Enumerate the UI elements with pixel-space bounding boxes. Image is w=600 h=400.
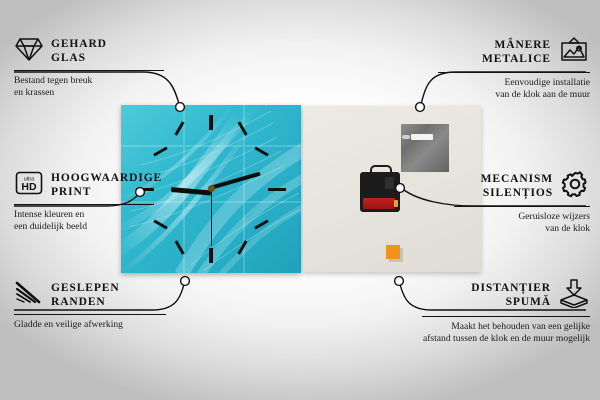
divider — [438, 72, 590, 73]
hanger-keyhole-slot — [411, 134, 433, 140]
mechanism-hanger-loop — [370, 165, 392, 176]
clock-second-hand — [211, 188, 213, 246]
divider — [14, 70, 164, 71]
feature-title: GEHARD GLAS — [51, 38, 107, 65]
feature-gehard-glas: GEHARD GLAS Bestand tegen breuk en krass… — [14, 36, 164, 98]
clock-tick-12 — [209, 115, 213, 130]
divider — [14, 204, 154, 205]
feature-distantier-spuma: DISTANȚIER SPUMĂ Maakt het behouden van … — [422, 278, 590, 344]
picture-frame-hanger-icon — [558, 36, 590, 69]
feature-geslepen-randen: GESLEPEN RANDEN Gladde en veilige afwerk… — [14, 280, 166, 331]
feature-title: MECANISM SILENȚIOS — [481, 173, 553, 200]
feature-title: HOOGWAARDIGE PRINT — [51, 172, 162, 199]
clock-mechanism-box — [360, 172, 400, 212]
feature-description: Bestand tegen breuk en krassen — [14, 75, 164, 98]
feature-manere-metalice: MÂNERE METALICE Eenvoudige installatie v… — [438, 36, 590, 100]
clock-tick-3 — [268, 188, 286, 191]
infographic-canvas: GEHARD GLAS Bestand tegen breuk en krass… — [0, 0, 600, 400]
clock-center-cap — [208, 185, 215, 192]
feature-description: Eenvoudige installatie van de klok aan d… — [438, 77, 590, 100]
feature-description: Gladde en veilige afwerking — [14, 319, 166, 331]
feature-hoogwaardige-print: ultra HD HOOGWAARDIGE PRINT Intense kleu… — [14, 170, 154, 232]
divider — [422, 316, 590, 317]
foam-spacer-block — [386, 245, 400, 259]
metal-hanger-plate — [401, 124, 449, 172]
clock-tick-6 — [209, 248, 213, 263]
divider — [14, 314, 166, 315]
battery — [363, 198, 395, 209]
feature-description: Intense kleuren en een duidelijk beeld — [14, 209, 154, 232]
product-image-group — [121, 105, 481, 273]
feature-description: Geruisloze wijzers van de klok — [454, 211, 590, 234]
gear-icon — [560, 170, 590, 203]
foam-spacer-icon — [558, 278, 590, 313]
feature-title: GESLEPEN RANDEN — [51, 282, 120, 309]
feature-mecanism-silentios: MECANISM SILENȚIOS Geruisloze wijzers va… — [454, 170, 590, 234]
svg-text:HD: HD — [21, 181, 37, 193]
diamond-icon — [14, 36, 44, 67]
mechanism-shaft — [385, 177, 394, 189]
ultra-hd-icon: ultra HD — [14, 170, 44, 201]
feature-description: Maakt het behouden van een gelijke afsta… — [422, 321, 590, 344]
beveled-edges-icon — [14, 280, 44, 311]
feature-title: DISTANȚIER SPUMĂ — [471, 282, 551, 309]
connector-endpoint-geslepen-randen — [181, 277, 190, 286]
feature-title: MÂNERE METALICE — [482, 39, 551, 66]
divider — [454, 206, 590, 207]
connector-endpoint-distantier-spuma — [395, 277, 404, 286]
